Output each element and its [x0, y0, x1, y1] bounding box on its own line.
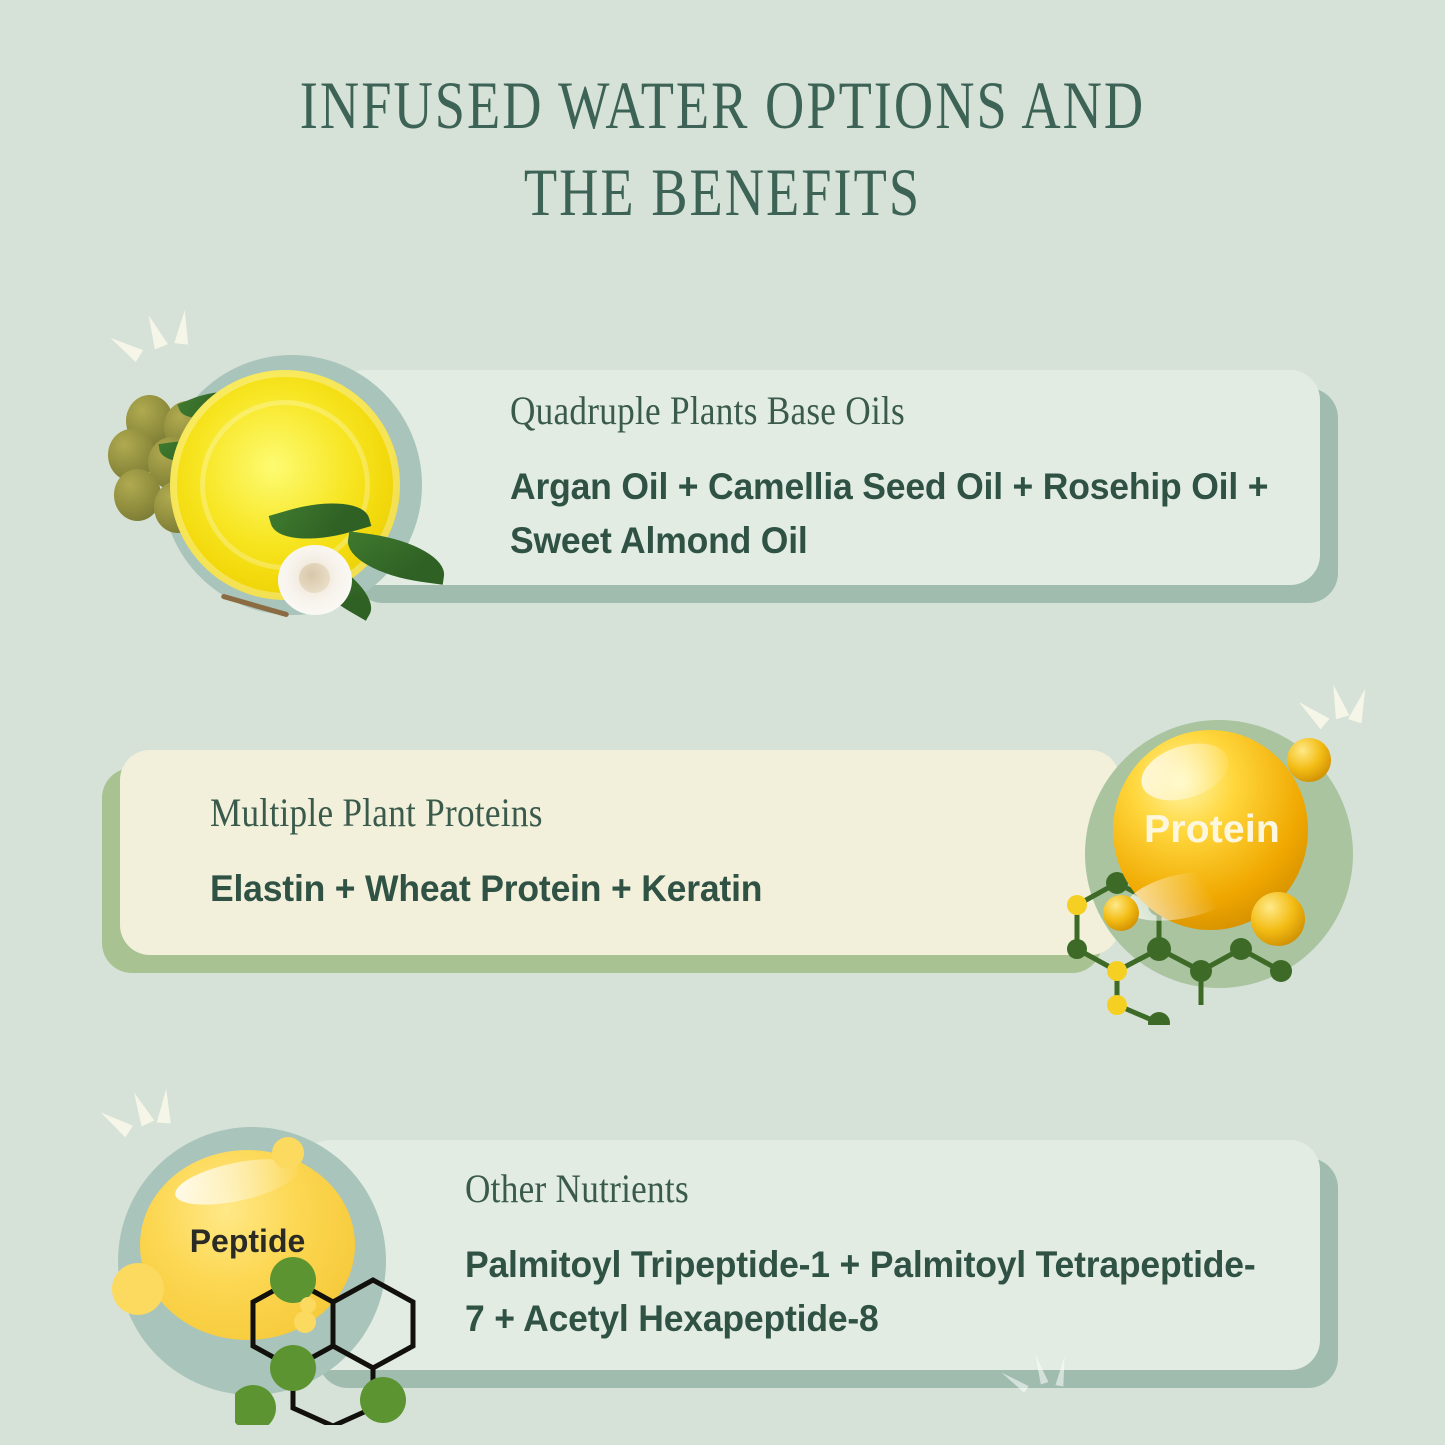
- small-orb-icon: [1251, 892, 1305, 946]
- sparkle-rays-icon: [1010, 1352, 1080, 1396]
- card-plant-proteins: Multiple Plant Proteins Elastin + Wheat …: [120, 750, 1120, 955]
- small-dot-icon: [272, 1137, 304, 1169]
- small-dot-icon: [300, 1297, 316, 1313]
- peptide-droplet-illustration: Peptide: [100, 1085, 445, 1425]
- protein-droplet-illustration: Protein: [1055, 680, 1400, 1025]
- card-content: Multiple Plant Proteins Elastin + Wheat …: [210, 750, 1030, 955]
- card-body-other-nutrients: Palmitoyl Tripeptide-1 + Palmitoyl Tetra…: [465, 1238, 1271, 1345]
- small-orb-icon: [1103, 895, 1139, 931]
- oil-bowl-olives-camellia-image: [100, 300, 470, 650]
- small-orb-icon: [1287, 738, 1331, 782]
- protein-orb-label: Protein: [1117, 808, 1307, 852]
- card-content: Other Nutrients Palmitoyl Tripeptide-1 +…: [465, 1140, 1305, 1370]
- camellia-flower-icon: [278, 545, 352, 615]
- card-body-base-oils: Argan Oil + Camellia Seed Oil + Rosehip …: [510, 460, 1278, 567]
- sparkle-rays-icon: [1305, 680, 1365, 722]
- card-heading-other-nutrients: Other Nutrients: [465, 1165, 1204, 1212]
- molecule-lattice-icon: [235, 1250, 445, 1425]
- card-body-plant-proteins: Elastin + Wheat Protein + Keratin: [210, 862, 997, 916]
- card-other-nutrients: Other Nutrients Palmitoyl Tripeptide-1 +…: [300, 1140, 1320, 1370]
- card-base-oils: Quadruple Plants Base Oils Argan Oil + C…: [335, 370, 1320, 585]
- card-heading-plant-proteins: Multiple Plant Proteins: [210, 789, 932, 836]
- sparkle-rays-icon: [118, 308, 198, 358]
- sparkle-rays-icon: [108, 1087, 178, 1131]
- card-heading-base-oils: Quadruple Plants Base Oils: [510, 387, 1214, 434]
- page-title: Infused Water Options and The Benefits: [145, 62, 1301, 236]
- card-content: Quadruple Plants Base Oils Argan Oil + C…: [510, 370, 1310, 585]
- small-dot-icon: [112, 1263, 164, 1315]
